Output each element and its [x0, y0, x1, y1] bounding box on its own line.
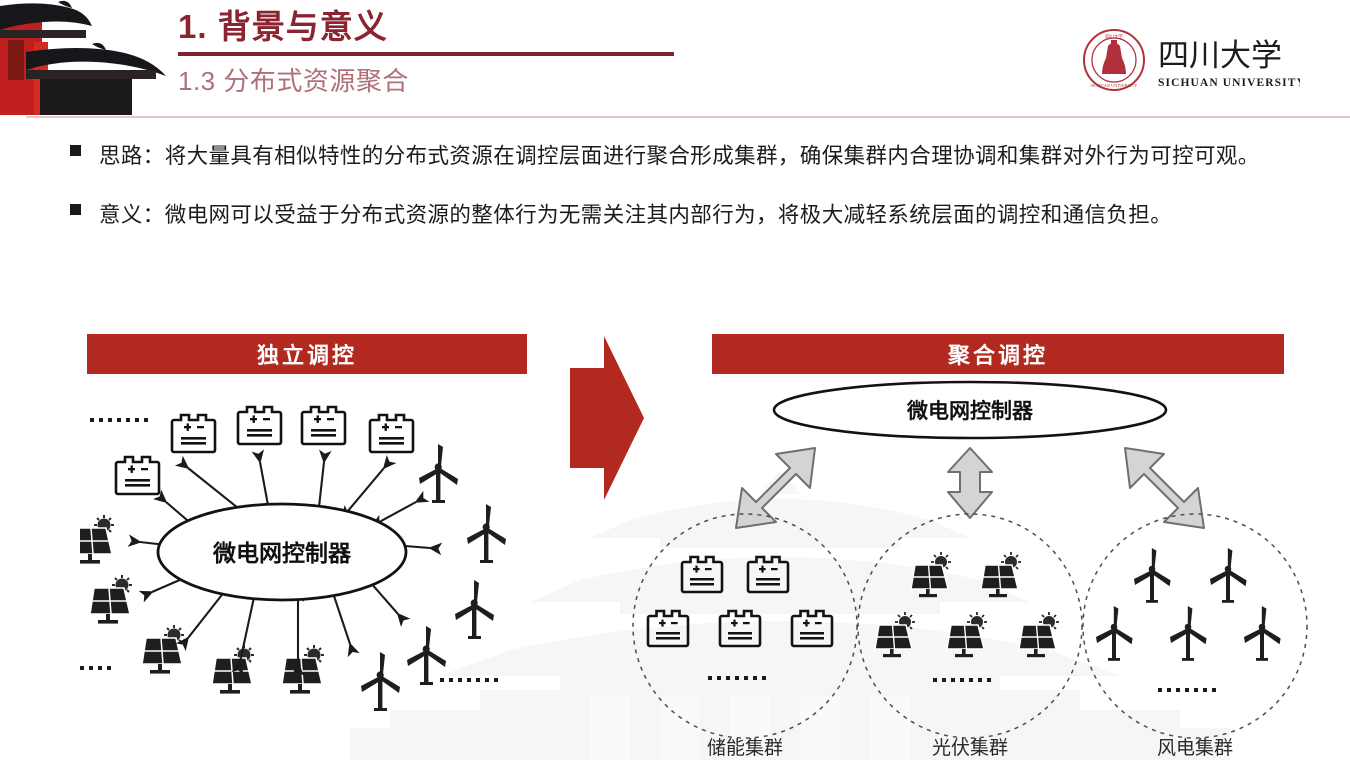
double-arrow-diagonal-left	[736, 448, 815, 528]
square-bullet-icon	[70, 204, 81, 215]
slide-header: 1. 背景与意义 1.3 分布式资源聚合 SICHUAN UNIVERSITY …	[0, 0, 1350, 120]
double-arrow-vertical	[948, 448, 992, 518]
cluster-label: 风电集群	[1157, 737, 1233, 759]
list-item: 意义：微电网可以受益于分布式资源的整体行为无需关注其内部行为，将极大减轻系统层面…	[70, 193, 1335, 238]
banner-aggregated-control: 聚合调控	[712, 334, 1284, 374]
cluster-pv: 光伏集群	[858, 514, 1082, 759]
controller-label: 微电网控制器	[906, 399, 1034, 423]
bullet-text: 意义：微电网可以受益于分布式资源的整体行为无需关注其内部行为，将极大减轻系统层面…	[99, 193, 1172, 238]
pagoda-roof-decoration	[0, 0, 180, 115]
wind-turbine-icon	[1244, 606, 1281, 661]
cluster-label: 光伏集群	[932, 737, 1008, 759]
svg-text:四川大学: 四川大学	[1105, 33, 1123, 40]
bullet-list: 思路：将大量具有相似特性的分布式资源在调控层面进行聚合形成集群，确保集群内合理协…	[70, 134, 1335, 252]
solar-panel-icon	[1019, 612, 1059, 657]
battery-icon	[648, 611, 688, 646]
solar-panel-icon	[282, 645, 324, 694]
battery-icon	[238, 407, 281, 444]
title-underline	[178, 52, 674, 56]
battery-icon	[116, 457, 159, 494]
solar-panel-icon	[142, 625, 184, 674]
wind-turbine-icon	[467, 504, 506, 563]
logo-name-en: SICHUAN UNIVERSITY	[1158, 77, 1300, 89]
battery-icon	[172, 415, 215, 452]
header-divider	[26, 116, 1350, 118]
double-arrow-diagonal-right	[1125, 448, 1204, 528]
wind-turbine-icon	[419, 444, 458, 503]
wind-turbine-icon	[455, 580, 494, 639]
wind-turbine-icon	[1170, 606, 1207, 661]
wind-turbine-icon	[1096, 606, 1133, 661]
controller-label: 微电网控制器	[212, 540, 352, 566]
left-diagram-panel: 微电网控制器	[80, 376, 550, 760]
battery-icon	[370, 415, 413, 452]
solar-panel-icon	[911, 552, 951, 597]
cluster-wind: 风电集群	[1083, 514, 1307, 759]
battery-icon	[748, 557, 788, 592]
battery-icon	[720, 611, 760, 646]
cluster-storage: 储能集群	[633, 514, 857, 759]
square-bullet-icon	[70, 145, 81, 156]
slide-root: 1. 背景与意义 1.3 分布式资源聚合 SICHUAN UNIVERSITY …	[0, 0, 1350, 760]
page-subtitle: 1.3 分布式资源聚合	[178, 62, 409, 100]
cluster-label: 储能集群	[707, 737, 783, 759]
solar-panel-icon	[90, 575, 132, 624]
right-diagram-panel: 微电网控制器	[620, 376, 1320, 760]
wind-turbine-icon	[1134, 548, 1171, 603]
banner-independent-control: 独立调控	[87, 334, 527, 374]
solar-panel-icon	[875, 612, 915, 657]
diagram-area: 独立调控 聚合调控	[0, 322, 1350, 760]
wind-turbine-icon	[361, 652, 400, 711]
list-item: 思路：将大量具有相似特性的分布式资源在调控层面进行聚合形成集群，确保集群内合理协…	[70, 134, 1335, 179]
solar-panel-icon	[947, 612, 987, 657]
page-title: 1. 背景与意义	[178, 6, 388, 48]
bullet-text: 思路：将大量具有相似特性的分布式资源在调控层面进行聚合形成集群，确保集群内合理协…	[99, 134, 1260, 179]
svg-text:SICHUAN UNIVERSITY: SICHUAN UNIVERSITY	[1091, 83, 1139, 88]
solar-panel-icon	[80, 515, 114, 564]
wind-turbine-icon	[1210, 548, 1247, 603]
battery-icon	[302, 407, 345, 444]
solar-panel-icon	[981, 552, 1021, 597]
logo-name-cn: 四川大学	[1158, 38, 1282, 73]
university-logo: SICHUAN UNIVERSITY 四川大学 四川大学 SICHUAN UNI…	[1078, 26, 1300, 98]
battery-icon	[682, 557, 722, 592]
solar-panel-icon	[212, 645, 254, 694]
wind-turbine-icon	[407, 626, 446, 685]
battery-icon	[792, 611, 832, 646]
